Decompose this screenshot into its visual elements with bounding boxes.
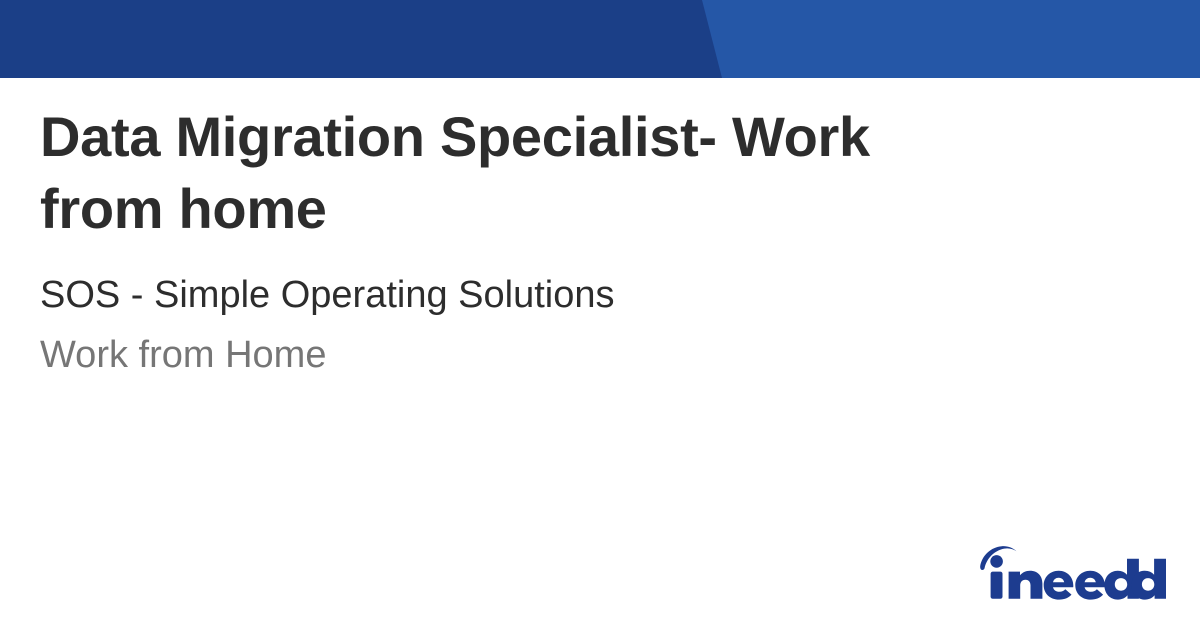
job-share-card: Data Migration Specialist- Work from hom… bbox=[0, 0, 1200, 630]
company-name: SOS - Simple Operating Solutions bbox=[40, 245, 1040, 318]
brand-header-band bbox=[0, 0, 1200, 78]
job-title: Data Migration Specialist- Work from hom… bbox=[40, 101, 1005, 245]
brand-band-dark-segment bbox=[0, 0, 722, 78]
job-summary: Data Migration Specialist- Work from hom… bbox=[40, 101, 1040, 378]
indeed-logo bbox=[976, 544, 1166, 600]
job-location: Work from Home bbox=[40, 318, 1040, 378]
